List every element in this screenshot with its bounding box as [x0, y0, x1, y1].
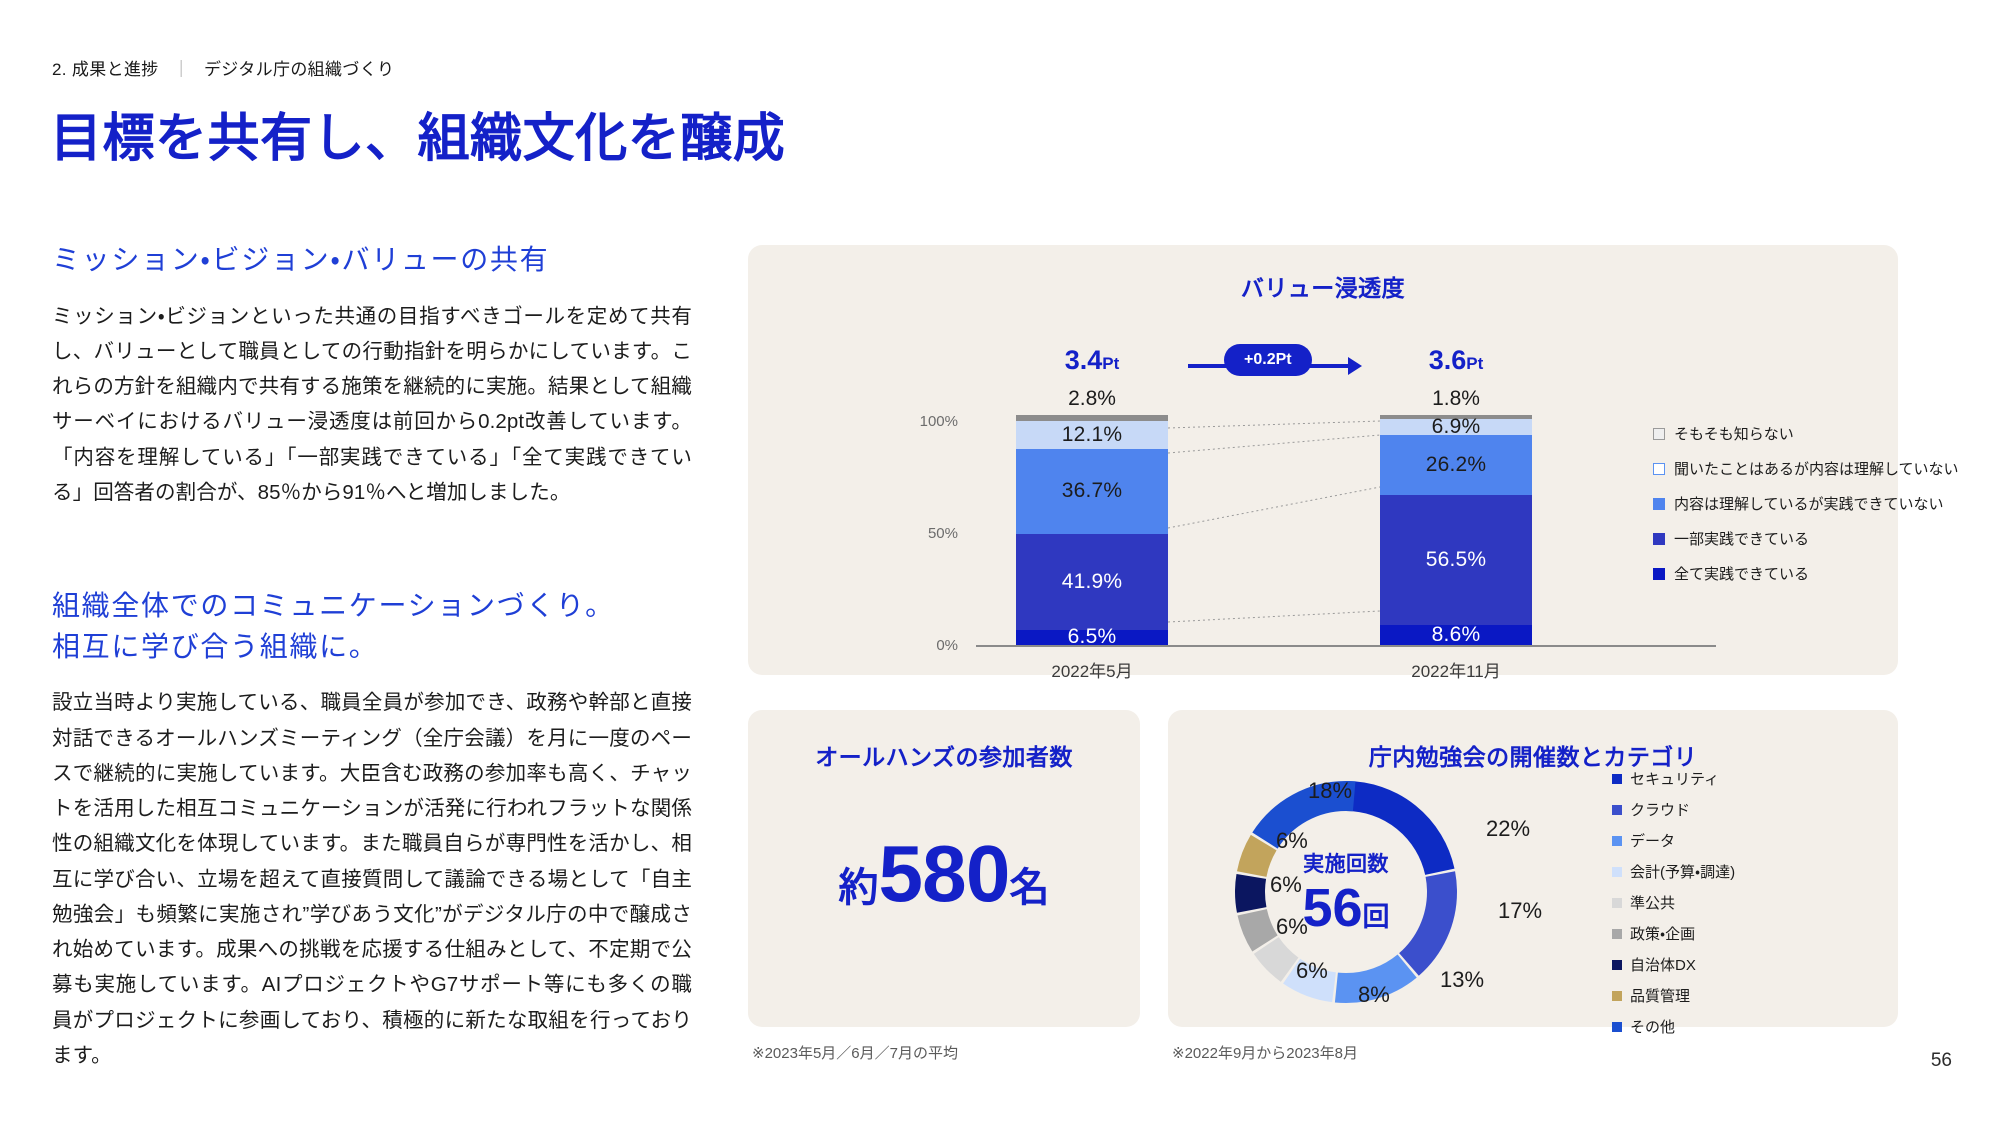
breadcrumb-topic: デジタル庁の組織づくり [204, 60, 394, 79]
donut-pct-data: 13% [1440, 967, 1484, 993]
legend-item-unknown: そもそも知らない [1653, 423, 1959, 444]
allhands-value: 約580名 [748, 828, 1140, 920]
donut-pct-other: 18% [1308, 778, 1352, 804]
donut-legend-item-policy: 政策・企画 [1612, 923, 1735, 944]
bar-seg-full-right: 8.6% [1380, 625, 1532, 645]
slide-root: 2. 成果と進捗｜デジタル庁の組織づくり 目標を共有し、組織文化を醸成 ミッショ… [0, 0, 2000, 1125]
donut-chart: 実施回数 56回 [1226, 772, 1466, 1012]
bar-2022-05: 12.1% 36.7% 41.9% 6.5% [1016, 415, 1168, 645]
donut-swatch-quasi-public [1612, 898, 1622, 908]
breadcrumb-separator: ｜ [159, 60, 204, 79]
donut-legend-item-quasi-public: 準公共 [1612, 892, 1735, 913]
section-block-communication: 組織全体でのコミュニケーションづくり。 相互に学び合う組織に。 設立当時より実施… [52, 586, 692, 1073]
legend-swatch-full [1653, 568, 1665, 580]
study-sessions-title: 庁内勉強会の開催数とカテゴリ [1168, 738, 1898, 772]
bar-seg-partial-right: 56.5% [1380, 495, 1532, 625]
page-number: 56 [1931, 1050, 1952, 1072]
donut-pct-security: 22% [1486, 816, 1530, 842]
bar-seg-full-left: 6.5% [1016, 630, 1168, 645]
donut-center-label: 実施回数 56回 [1226, 772, 1466, 1012]
allhands-title: オールハンズの参加者数 [748, 738, 1140, 772]
section-heading-communication-line2: 相互に学び合う組織に。 [52, 627, 692, 668]
score-left: 3.4Pt [1016, 345, 1168, 376]
legend-swatch-understood [1653, 498, 1665, 510]
breadcrumb: 2. 成果と進捗｜デジタル庁の組織づくり [52, 55, 394, 80]
donut-swatch-data [1612, 836, 1622, 846]
legend-item-heard: 聞いたことはあるが内容は理解していない [1653, 458, 1959, 479]
study-sessions-card: 庁内勉強会の開催数とカテゴリ 実施回数 56回 [1168, 710, 1898, 1027]
legend-swatch-heard [1653, 463, 1665, 475]
breadcrumb-section: 2. 成果と進捗 [52, 60, 159, 79]
legend-item-understood: 内容は理解しているが実践できていない [1653, 493, 1959, 514]
donut-legend-item-other: その他 [1612, 1016, 1735, 1037]
donut-pct-accounting: 8% [1358, 982, 1390, 1008]
donut-legend-item-cloud: クラウド [1612, 799, 1735, 820]
bar-chart-legend: そもそも知らない 聞いたことはあるが内容は理解していない 内容は理解しているが実… [1653, 423, 1959, 584]
donut-pct-cloud: 17% [1498, 898, 1542, 924]
legend-item-full: 全て実践できている [1653, 563, 1959, 584]
section-heading-mvv: ミッション・ビジョン・バリューの共有 [52, 240, 692, 281]
donut-swatch-cloud [1612, 805, 1622, 815]
bar-seg-partial-left: 41.9% [1016, 534, 1168, 630]
donut-legend-item-local-dx: 自治体DX [1612, 954, 1735, 975]
donut-chart-legend: セキュリティ クラウド データ 会計(予算・調達) 準公共 政策・企画 [1612, 768, 1735, 1037]
donut-pct-quasi-public: 6% [1296, 958, 1328, 984]
donut-pct-policy: 6% [1276, 914, 1308, 940]
donut-pct-quality: 6% [1276, 828, 1308, 854]
x-label-2022-05: 2022年5月 [1002, 657, 1182, 682]
donut-center-caption: 実施回数 [1303, 848, 1389, 878]
bar-seg-understood-left: 36.7% [1016, 449, 1168, 533]
value-penetration-card: バリュー浸透度 3.4Pt +0.2Pt 3.6Pt 2.8% 1.8% 100… [748, 245, 1898, 675]
donut-swatch-policy [1612, 929, 1622, 939]
score-right: 3.6Pt [1380, 345, 1532, 376]
allhands-suffix: 名 [1010, 866, 1050, 910]
donut-legend-item-data: データ [1612, 830, 1735, 851]
donut-swatch-quality [1612, 991, 1622, 1001]
donut-legend-item-quality: 品質管理 [1612, 985, 1735, 1006]
donut-swatch-accounting [1612, 867, 1622, 877]
donut-legend-item-security: セキュリティ [1612, 768, 1735, 789]
delta-arrow-head [1348, 357, 1362, 375]
stacked-bar-chart: 3.4Pt +0.2Pt 3.6Pt 2.8% 1.8% 100% 50% 0% [748, 245, 1898, 675]
page-title: 目標を共有し、組織文化を醸成 [50, 96, 785, 171]
study-sessions-footnote: ※2022年9月から2023年8月 [1172, 1042, 1358, 1063]
legend-swatch-partial [1653, 533, 1665, 545]
donut-pct-local-dx: 6% [1270, 872, 1302, 898]
bar-2022-11: 6.9% 26.2% 56.5% 8.6% [1380, 415, 1532, 645]
bar-top-cap-left: 2.8% [1016, 387, 1168, 411]
delta-badge: +0.2Pt [1224, 344, 1312, 376]
allhands-number: 580 [878, 829, 1009, 918]
donut-legend-item-accounting: 会計(予算・調達) [1612, 861, 1735, 882]
allhands-footnote: ※2023年5月／6月／7月の平均 [752, 1042, 958, 1063]
y-tick-100: 100% [898, 413, 958, 430]
bar-top-cap-right: 1.8% [1380, 387, 1532, 411]
donut-center-number: 56回 [1302, 880, 1389, 937]
section-body-mvv: ミッション・ビジョンといった共通の目指すべきゴールを定めて共有し、バリューとして… [52, 299, 692, 511]
y-tick-0: 0% [898, 637, 958, 654]
donut-swatch-local-dx [1612, 960, 1622, 970]
allhands-participants-card: オールハンズの参加者数 約580名 [748, 710, 1140, 1027]
y-tick-50: 50% [898, 525, 958, 542]
bar-seg-heard-right: 6.9% [1380, 419, 1532, 435]
bar-seg-heard-left: 12.1% [1016, 421, 1168, 449]
x-label-2022-11: 2022年11月 [1366, 657, 1546, 682]
bar-seg-understood-right: 26.2% [1380, 435, 1532, 495]
legend-item-partial: 一部実践できている [1653, 528, 1959, 549]
donut-swatch-other [1612, 1022, 1622, 1032]
section-heading-communication-line1: 組織全体でのコミュニケーションづくり。 [52, 586, 692, 627]
left-content-column: ミッション・ビジョン・バリューの共有 ミッション・ビジョンといった共通の目指すべ… [52, 240, 692, 1073]
donut-swatch-security [1612, 774, 1622, 784]
allhands-prefix: 約 [838, 866, 878, 910]
section-body-communication: 設立当時より実施している、職員全員が参加でき、政務や幹部と直接対話できるオールハ… [52, 685, 692, 1073]
legend-swatch-unknown [1653, 428, 1665, 440]
